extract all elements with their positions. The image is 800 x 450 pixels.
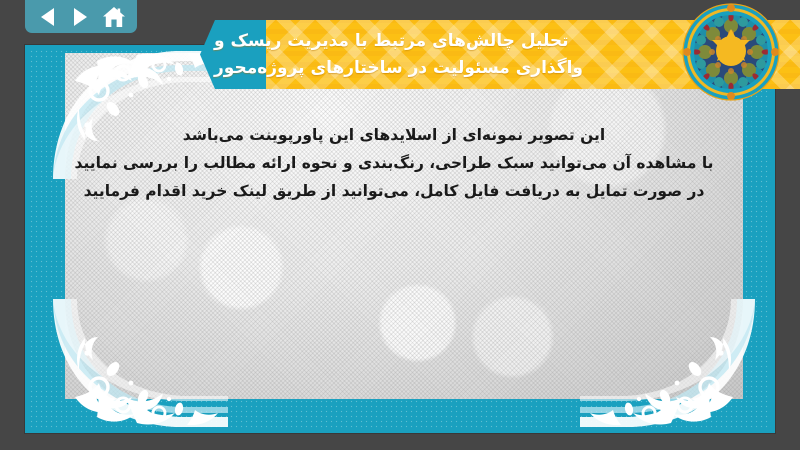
home-icon <box>102 6 126 28</box>
body-line-3: در صورت تمایل به دریافت فایل کامل، می‌تو… <box>43 179 745 204</box>
slide-content-area <box>65 53 743 399</box>
triangle-left-icon <box>41 8 54 26</box>
body-line-1: این تصویر نمونه‌ای از اسلایدهای این پاور… <box>43 123 745 148</box>
next-slide-button[interactable] <box>67 5 95 29</box>
body-line-2: با مشاهده آن می‌توانید سبک طراحی، رنگ‌بن… <box>43 151 745 176</box>
previous-slide-button[interactable] <box>34 5 62 29</box>
title-line-1: تحلیل چالش‌های مرتبط با مدیریت ریسک و <box>214 28 569 54</box>
slide-body-text: این تصویر نمونه‌ای از اسلایدهای این پاور… <box>25 123 763 207</box>
title-line-2: واگذاری مسئولیت در ساختارهای پروژه‌محور <box>214 55 583 81</box>
slide-viewer: این تصویر نمونه‌ای از اسلایدهای این پاور… <box>0 0 800 450</box>
navigation-bar <box>25 0 137 33</box>
slide-canvas: این تصویر نمونه‌ای از اسلایدهای این پاور… <box>25 45 775 433</box>
home-button[interactable] <box>100 5 128 29</box>
persian-medallion-icon <box>681 2 781 102</box>
triangle-right-icon <box>74 8 87 26</box>
